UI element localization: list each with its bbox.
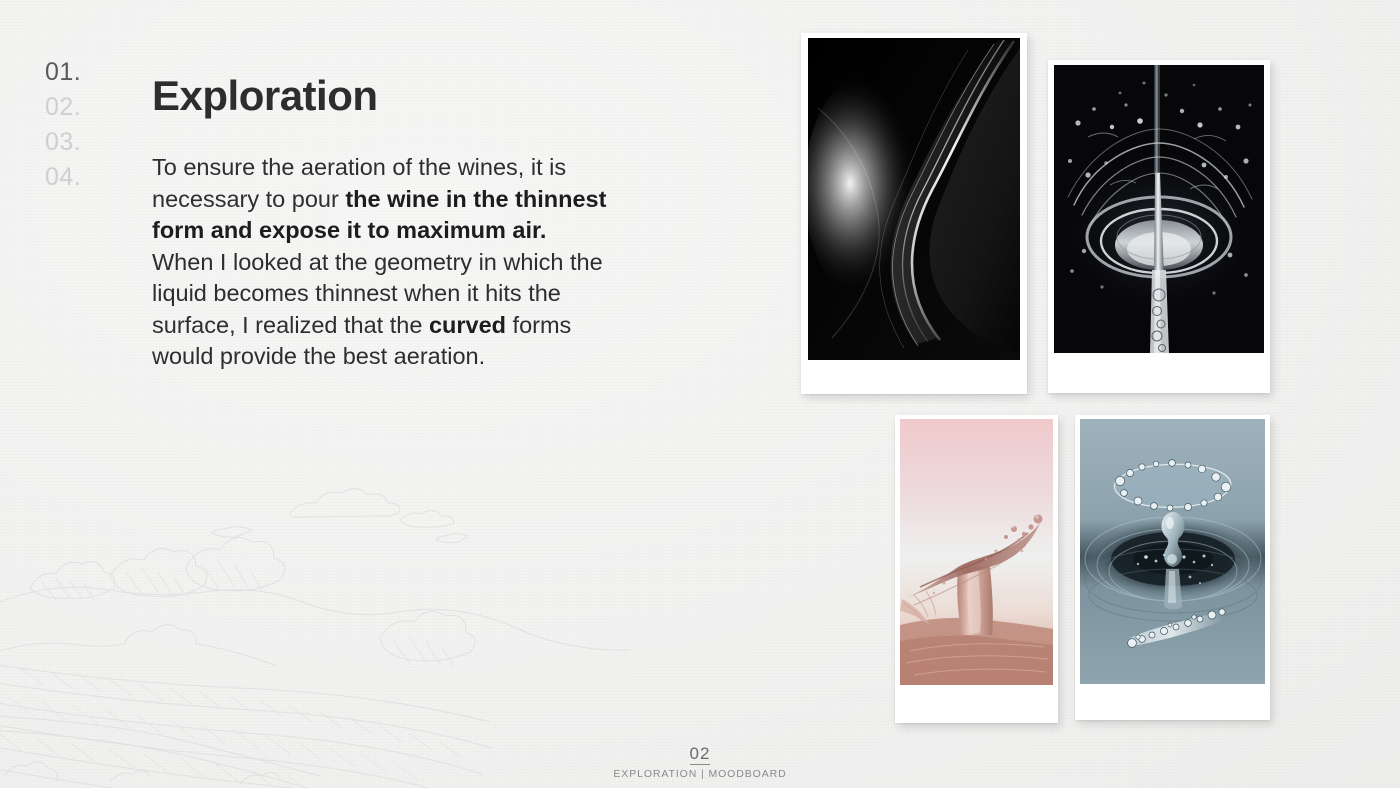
moodboard-card-abstract-black-curve[interactable]: [801, 33, 1027, 394]
photo-rose-wine-splash: [900, 419, 1053, 685]
slide-footer: 02 EXPLORATION | MOODBOARD: [0, 744, 1400, 780]
photo-blue-water-droplet: [1080, 419, 1265, 684]
moodboard-card-rose-wine-splash[interactable]: [895, 415, 1058, 723]
step-number-list: 01. 02. 03. 04.: [45, 55, 81, 195]
page-title: Exploration: [152, 72, 378, 120]
step-number-01[interactable]: 01.: [45, 55, 81, 90]
page-number: 02: [690, 744, 711, 765]
vineyard-sketch-watermark: [0, 458, 630, 788]
step-number-04[interactable]: 04.: [45, 160, 81, 195]
photo-abstract-black-curve: [808, 38, 1020, 360]
body-paragraph: To ensure the aeration of the wines, it …: [152, 152, 612, 373]
slide-canvas: 01. 02. 03. 04. Exploration To ensure th…: [0, 0, 1400, 788]
footer-label: EXPLORATION | MOODBOARD: [0, 768, 1400, 780]
photo-water-crown-splash: [1054, 65, 1264, 353]
moodboard-card-water-crown-splash[interactable]: [1048, 60, 1270, 393]
moodboard-card-blue-water-droplet[interactable]: [1075, 415, 1270, 720]
step-number-03[interactable]: 03.: [45, 125, 81, 160]
step-number-02[interactable]: 02.: [45, 90, 81, 125]
body-emphasis-2: curved: [429, 312, 506, 338]
